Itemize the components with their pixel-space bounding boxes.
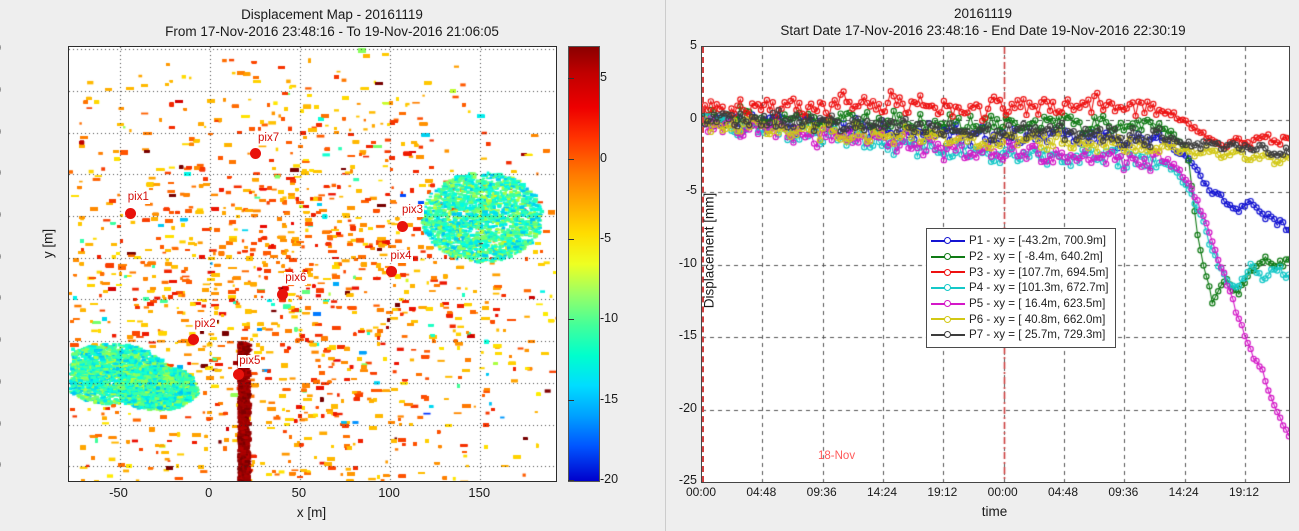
time-series-panel: 20161119 Start Date 17-Nov-2016 23:48:16…: [665, 0, 1299, 531]
map-y-tick: 740: [0, 124, 1, 139]
map-x-axis-label: x [m]: [68, 505, 555, 520]
timeseries-y-tick: 5: [637, 38, 697, 52]
map-y-tick: 640: [0, 332, 1, 347]
map-marker-label-pix4: pix4: [389, 250, 412, 263]
colorbar: [568, 46, 600, 482]
timeseries-y-axis-label: Displacement [mm]: [702, 151, 717, 351]
legend-swatch-p2: [931, 251, 965, 263]
colorbar-tick: -15: [600, 392, 618, 406]
legend-label-p4: P4 - xy = [101.3m, 672.7m]: [969, 281, 1109, 294]
colorbar-tick-mark: [568, 159, 574, 160]
figure-container: Displacement Map - 20161119 From 17-Nov-…: [0, 0, 1299, 531]
displacement-map-axes[interactable]: [68, 46, 557, 482]
legend-label-p7: P7 - xy = [ 25.7m, 729.3m]: [969, 328, 1105, 341]
legend-item-p6[interactable]: P6 - xy = [ 40.8m, 662.0m]: [931, 311, 1109, 327]
map-y-tick: 680: [0, 249, 1, 264]
day-annotation-label: 18-Nov: [818, 450, 855, 462]
map-x-tick: 0: [179, 485, 239, 500]
legend-swatch-p5: [931, 298, 965, 310]
legend-marker-icon: [944, 331, 951, 338]
map-marker-label-pix5: pix5: [238, 355, 261, 368]
map-x-tick: -50: [89, 485, 149, 500]
legend-label-p1: P1 - xy = [-43.2m, 700.9m]: [969, 234, 1106, 247]
map-marker-pix1[interactable]: [125, 208, 136, 219]
timeseries-x-tick: 19:12: [912, 485, 972, 499]
timeseries-x-tick: 09:36: [792, 485, 852, 499]
displacement-map-panel: Displacement Map - 20161119 From 17-Nov-…: [0, 0, 664, 531]
timeseries-x-tick: 14:24: [852, 485, 912, 499]
map-y-tick: 700: [0, 207, 1, 222]
map-title-line2: From 17-Nov-2016 23:48:16 - To 19-Nov-20…: [0, 23, 664, 40]
timeseries-y-tick: -15: [637, 328, 697, 342]
timeseries-y-tick: -10: [637, 256, 697, 270]
timeseries-x-tick: 19:12: [1214, 485, 1274, 499]
map-y-axis-label: y [m]: [41, 184, 56, 304]
timeseries-title-line2: Start Date 17-Nov-2016 23:48:16 - End Da…: [666, 22, 1299, 39]
map-marker-label-pix6: pix6: [284, 272, 307, 285]
timeseries-x-tick: 14:24: [1154, 485, 1214, 499]
legend-marker-icon: [944, 284, 951, 291]
legend-item-p2[interactable]: P2 - xy = [ -8.4m, 640.2m]: [931, 249, 1109, 265]
legend-swatch-p1: [931, 235, 965, 247]
map-marker-label-pix1: pix1: [127, 191, 150, 204]
timeseries-y-tick: -20: [637, 401, 697, 415]
legend-item-p3[interactable]: P3 - xy = [107.7m, 694.5m]: [931, 264, 1109, 280]
timeseries-x-tick: 04:48: [1033, 485, 1093, 499]
colorbar-tick-mark: [568, 400, 574, 401]
legend-swatch-p6: [931, 313, 965, 325]
timeseries-x-tick: 09:36: [1093, 485, 1153, 499]
map-y-tick: 620: [0, 374, 1, 389]
map-marker-pix5[interactable]: [233, 369, 244, 380]
colorbar-tick-mark: [568, 78, 574, 79]
displacement-map-image: [69, 47, 556, 481]
legend-marker-icon: [944, 269, 951, 276]
colorbar-tick-mark: [568, 480, 574, 481]
map-y-tick: 760: [0, 82, 1, 97]
map-y-tick: 600: [0, 416, 1, 431]
legend-label-p3: P3 - xy = [107.7m, 694.5m]: [969, 266, 1109, 279]
map-marker-pix7[interactable]: [250, 148, 261, 159]
map-title-line1: Displacement Map - 20161119: [0, 7, 664, 23]
timeseries-legend[interactable]: P1 - xy = [-43.2m, 700.9m]P2 - xy = [ -8…: [926, 228, 1116, 348]
map-marker-label-pix2: pix2: [194, 318, 217, 331]
colorbar-tick: -20: [600, 472, 618, 486]
timeseries-x-tick: 00:00: [973, 485, 1033, 499]
colorbar-tick-mark: [568, 239, 574, 240]
map-title: Displacement Map - 20161119 From 17-Nov-…: [0, 7, 664, 40]
legend-item-p5[interactable]: P5 - xy = [ 16.4m, 623.5m]: [931, 296, 1109, 312]
map-x-tick: 50: [269, 485, 329, 500]
timeseries-x-tick: 04:48: [731, 485, 791, 499]
timeseries-x-tick: 00:00: [671, 485, 731, 499]
legend-swatch-p7: [931, 329, 965, 341]
timeseries-title-line1: 20161119: [666, 6, 1299, 22]
legend-marker-icon: [944, 237, 951, 244]
legend-marker-icon: [944, 300, 951, 307]
map-x-tick: 100: [359, 485, 419, 500]
legend-swatch-p3: [931, 266, 965, 278]
timeseries-title: 20161119 Start Date 17-Nov-2016 23:48:16…: [666, 6, 1299, 39]
map-y-tick: 720: [0, 165, 1, 180]
colorbar-tick: 0: [600, 151, 607, 165]
timeseries-y-tick: 0: [637, 111, 697, 125]
legend-label-p2: P2 - xy = [ -8.4m, 640.2m]: [969, 250, 1103, 263]
map-marker-pix6[interactable]: [277, 289, 288, 300]
map-y-tick: 780: [0, 40, 1, 55]
colorbar-tick: 5: [600, 70, 607, 84]
colorbar-tick: -10: [600, 311, 618, 325]
legend-item-p1[interactable]: P1 - xy = [-43.2m, 700.9m]: [931, 233, 1109, 249]
map-x-tick: 150: [449, 485, 509, 500]
map-marker-label-pix7: pix7: [257, 132, 280, 145]
legend-marker-icon: [944, 316, 951, 323]
legend-item-p4[interactable]: P4 - xy = [101.3m, 672.7m]: [931, 280, 1109, 296]
map-y-tick: 660: [0, 290, 1, 305]
legend-label-p6: P6 - xy = [ 40.8m, 662.0m]: [969, 313, 1105, 326]
timeseries-x-axis-label: time: [701, 504, 1288, 519]
map-marker-label-pix3: pix3: [401, 204, 424, 217]
legend-swatch-p4: [931, 282, 965, 294]
map-y-tick: 580: [0, 457, 1, 472]
legend-label-p5: P5 - xy = [ 16.4m, 623.5m]: [969, 297, 1105, 310]
legend-item-p7[interactable]: P7 - xy = [ 25.7m, 729.3m]: [931, 327, 1109, 343]
colorbar-tick-mark: [568, 319, 574, 320]
timeseries-y-tick: -5: [637, 183, 697, 197]
colorbar-tick: -5: [600, 231, 611, 245]
legend-marker-icon: [944, 253, 951, 260]
